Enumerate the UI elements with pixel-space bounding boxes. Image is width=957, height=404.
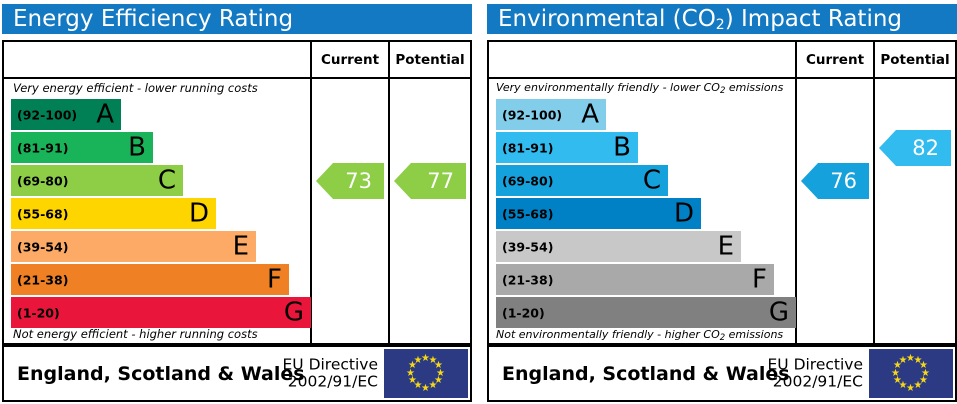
- band-range-d: (55-68): [17, 206, 68, 221]
- band-range-e: (39-54): [17, 239, 68, 254]
- eu-flag-icon: [869, 349, 953, 398]
- band-bar-d: (55-68) D: [496, 198, 701, 229]
- band-bar-a: (92-100) A: [496, 99, 606, 130]
- band-range-a: (92-100): [502, 107, 562, 122]
- table-body: Very energy efficient - lower running co…: [4, 79, 470, 343]
- current-rating-arrow: 76: [801, 163, 869, 199]
- header-potential: Potential: [388, 42, 470, 77]
- band-bar-b: (81-91) B: [496, 132, 638, 163]
- band-range-g: (1-20): [17, 305, 60, 320]
- caption-top-subscript: 2: [720, 86, 725, 96]
- band-range-d: (55-68): [502, 206, 553, 221]
- band-range-e: (39-54): [502, 239, 553, 254]
- environmental-impact-table: Current Potential Very environmentally f…: [487, 40, 957, 345]
- caption-top: Very environmentally friendly - lower CO…: [496, 81, 783, 94]
- band-bar-d: (55-68) D: [11, 198, 216, 229]
- current-rating-arrow: 73: [316, 163, 384, 199]
- band-letter-c: C: [158, 167, 176, 193]
- band-range-g: (1-20): [502, 305, 545, 320]
- band-letter-c: C: [643, 167, 661, 193]
- band-letter-e: E: [233, 233, 249, 259]
- band-bar-g: (1-20) G: [11, 297, 311, 328]
- caption-top-suffix: emissions: [725, 81, 783, 94]
- band-bar-f: (21-38) F: [11, 264, 289, 295]
- footer-directive-line2: 2002/91/EC: [768, 374, 864, 391]
- band-range-c: (69-80): [502, 173, 553, 188]
- band-bar-c: (69-80) C: [496, 165, 668, 196]
- band-bar-g: (1-20) G: [496, 297, 796, 328]
- band-range-a: (92-100): [17, 107, 77, 122]
- potential-rating-arrow: 82: [879, 130, 951, 166]
- band-bar-c: (69-80) C: [11, 165, 183, 196]
- band-letter-f: F: [267, 266, 282, 292]
- caption-top-prefix: Very environmentally friendly - lower CO: [496, 81, 720, 94]
- environmental-impact-footer: England, Scotland & Wales EU Directive 2…: [487, 345, 957, 402]
- panel-title-suffix: ) Impact Rating: [725, 6, 902, 32]
- band-letter-b: B: [128, 134, 146, 160]
- caption-bottom-suffix: emissions: [725, 328, 783, 341]
- header-current: Current: [310, 42, 388, 77]
- header-blank-cell: [489, 42, 795, 77]
- header-potential: Potential: [873, 42, 955, 77]
- header-blank-cell: [4, 42, 310, 77]
- band-letter-g: G: [769, 299, 789, 325]
- energy-efficiency-table: Current Potential Very energy efficient …: [2, 40, 472, 345]
- band-bar-b: (81-91) B: [11, 132, 153, 163]
- eu-flag-icon: [384, 349, 468, 398]
- energy-efficiency-panel: Energy Efficiency Rating Current Potenti…: [2, 0, 474, 404]
- energy-efficiency-title: Energy Efficiency Rating: [2, 4, 472, 34]
- band-range-c: (69-80): [17, 173, 68, 188]
- panel-title-text: Energy Efficiency Rating: [13, 6, 293, 32]
- footer-directive-line2: 2002/91/EC: [283, 374, 379, 391]
- band-bar-e: (39-54) E: [496, 231, 741, 262]
- band-bar-a: (92-100) A: [11, 99, 121, 130]
- table-header-row: Current Potential: [489, 42, 955, 79]
- caption-bottom-subscript: 2: [720, 333, 725, 343]
- band-letter-d: D: [189, 200, 209, 226]
- band-letter-a: A: [96, 101, 114, 127]
- caption-bottom: Not environmentally friendly - higher CO…: [496, 328, 783, 341]
- band-letter-g: G: [284, 299, 304, 325]
- panel-title-prefix: Environmental (CO: [498, 6, 716, 32]
- band-bar-f: (21-38) F: [496, 264, 774, 295]
- panel-title-subscript: 2: [716, 17, 725, 33]
- band-letter-d: D: [674, 200, 694, 226]
- caption-top: Very energy efficient - lower running co…: [13, 81, 258, 95]
- footer-region-label: England, Scotland & Wales: [502, 363, 790, 385]
- band-letter-e: E: [718, 233, 734, 259]
- band-letter-b: B: [613, 134, 631, 160]
- environmental-impact-panel: Environmental (CO2) Impact Rating Curren…: [487, 0, 957, 404]
- band-scale-co2: Very environmentally friendly - lower CO…: [489, 79, 795, 343]
- footer-region-label: England, Scotland & Wales: [17, 363, 305, 385]
- environmental-impact-title: Environmental (CO2) Impact Rating: [487, 4, 957, 34]
- column-divider-potential: [873, 79, 875, 343]
- band-letter-f: F: [752, 266, 767, 292]
- table-body: Very environmentally friendly - lower CO…: [489, 79, 955, 343]
- caption-bottom-prefix: Not environmentally friendly - higher CO: [496, 328, 720, 341]
- energy-efficiency-footer: England, Scotland & Wales EU Directive 2…: [2, 345, 472, 402]
- footer-directive: EU Directive 2002/91/EC: [768, 356, 864, 391]
- band-range-b: (81-91): [502, 140, 553, 155]
- band-bar-e: (39-54) E: [11, 231, 256, 262]
- band-range-f: (21-38): [17, 272, 68, 287]
- footer-directive: EU Directive 2002/91/EC: [283, 356, 379, 391]
- header-current: Current: [795, 42, 873, 77]
- potential-rating-arrow: 77: [394, 163, 466, 199]
- footer-directive-line1: EU Directive: [768, 356, 864, 373]
- footer-directive-line1: EU Directive: [283, 356, 379, 373]
- band-letter-a: A: [581, 101, 599, 127]
- column-divider-potential: [388, 79, 390, 343]
- band-scale-energy: Very energy efficient - lower running co…: [4, 79, 310, 343]
- table-header-row: Current Potential: [4, 42, 470, 79]
- epc-chart-sheet: Energy Efficiency Rating Current Potenti…: [0, 0, 957, 404]
- caption-bottom: Not energy efficient - higher running co…: [13, 327, 258, 341]
- band-range-b: (81-91): [17, 140, 68, 155]
- band-range-f: (21-38): [502, 272, 553, 287]
